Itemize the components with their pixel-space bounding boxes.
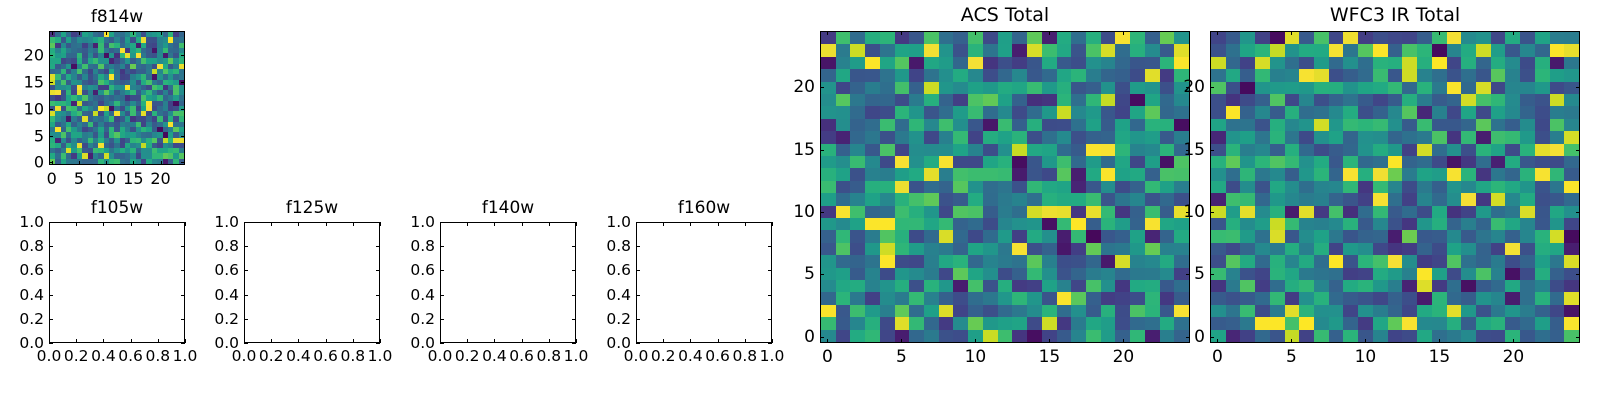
heatmap-cell	[983, 144, 998, 156]
heatmap-cell	[1012, 106, 1027, 118]
heatmap-cell	[1086, 230, 1101, 242]
heatmap-cell	[1211, 57, 1226, 69]
ytick-f105w	[49, 222, 53, 223]
yticklabel-wfc3-ir-total: 10	[1183, 202, 1205, 222]
subplot-f105w: f105w0.00.20.40.60.81.00.00.20.40.60.81.…	[49, 222, 185, 343]
heatmap-cell	[1491, 305, 1506, 317]
heatmap-cell	[1550, 193, 1565, 205]
heatmap-cell	[1314, 181, 1329, 193]
heatmap-cell	[1270, 32, 1285, 44]
xtick-f814w	[161, 161, 162, 165]
heatmap-cell	[1476, 206, 1491, 218]
ytick-right-f160w	[768, 295, 772, 296]
ytick-acs-total	[820, 212, 824, 213]
heatmap-cell	[895, 94, 910, 106]
heatmap-cell	[1174, 317, 1189, 329]
heatmap-cell	[1432, 305, 1447, 317]
heatmap-cell	[909, 280, 924, 292]
heatmap-cell	[1314, 292, 1329, 304]
heatmap-cell	[1130, 218, 1145, 230]
heatmap-cell	[968, 292, 983, 304]
heatmap-cell	[895, 280, 910, 292]
heatmap-cell	[836, 69, 851, 81]
heatmap-cell	[909, 206, 924, 218]
xtick-wfc3-ir-total	[1217, 339, 1218, 343]
heatmap-cell	[1373, 292, 1388, 304]
ytick-right-f125w	[376, 222, 380, 223]
heatmap-cell	[1255, 32, 1270, 44]
heatmap-cell	[1057, 106, 1072, 118]
heatmap-cell	[1115, 193, 1130, 205]
heatmap-cell	[1388, 119, 1403, 131]
heatmap-cell	[1447, 144, 1462, 156]
xticklabel-f125w: 0.8	[340, 347, 365, 365]
heatmap-cell	[1071, 106, 1086, 118]
heatmap-cell	[1388, 280, 1403, 292]
heatmap-cell	[1476, 106, 1491, 118]
heatmap-cell	[1071, 94, 1086, 106]
heatmap-cell	[1086, 292, 1101, 304]
xtick-top-f105w	[185, 222, 186, 226]
heatmap-cell	[1550, 57, 1565, 69]
heatmap-cell	[1115, 144, 1130, 156]
heatmap-cell	[1255, 317, 1270, 329]
xticklabel-f160w: 0.6	[705, 347, 730, 365]
ytick-right-wfc3-ir-total	[1576, 150, 1580, 151]
heatmap-cell	[1461, 156, 1476, 168]
heatmap-cell	[1550, 144, 1565, 156]
heatmap-cell	[1564, 156, 1579, 168]
heatmap-cell	[1564, 292, 1579, 304]
heatmap-cell	[1329, 106, 1344, 118]
heatmap-cell	[1564, 181, 1579, 193]
heatmap-cell	[1101, 32, 1116, 44]
heatmap-cell	[1012, 32, 1027, 44]
heatmap-cell	[1270, 255, 1285, 267]
heatmap-cell	[850, 193, 865, 205]
heatmap-cell	[1432, 280, 1447, 292]
ytick-right-f105w	[181, 222, 185, 223]
yticklabel-f160w: 0.4	[606, 286, 631, 304]
ytick-right-f814w	[181, 162, 185, 163]
heatmap-cell	[1550, 94, 1565, 106]
heatmap-cell	[865, 218, 880, 230]
heatmap-cell	[1160, 292, 1175, 304]
ytick-f105w	[49, 319, 53, 320]
heatmap-cell	[1086, 94, 1101, 106]
heatmap-cell	[1417, 82, 1432, 94]
heatmap-cell	[1476, 317, 1491, 329]
heatmap-cell	[983, 82, 998, 94]
heatmap-cell	[983, 94, 998, 106]
heatmap-cell	[1373, 255, 1388, 267]
heatmap-cell	[1535, 131, 1550, 143]
heatmap-cell	[1086, 82, 1101, 94]
heatmap-cell	[1491, 156, 1506, 168]
ytick-f814w	[49, 55, 53, 56]
heatmap-cell	[1160, 82, 1175, 94]
heatmap-cell	[968, 243, 983, 255]
heatmap-cell	[1373, 193, 1388, 205]
heatmap-cell	[850, 206, 865, 218]
heatmap-cell	[880, 280, 895, 292]
heatmap-cell	[983, 168, 998, 180]
heatmap-cell	[953, 317, 968, 329]
heatmap-cell	[1417, 156, 1432, 168]
heatmap-cell	[1226, 280, 1241, 292]
heatmap-cell	[1285, 119, 1300, 131]
heatmap-cell	[836, 255, 851, 267]
heatmap-cell	[1299, 193, 1314, 205]
heatmap-cell	[1535, 82, 1550, 94]
heatmap-cell	[1285, 168, 1300, 180]
heatmap-cell	[953, 230, 968, 242]
xtick-f125w	[298, 339, 299, 343]
heatmap-cell	[939, 82, 954, 94]
heatmap-cell	[1564, 44, 1579, 56]
heatmap-cell	[1491, 144, 1506, 156]
heatmap-cell	[1358, 268, 1373, 280]
xticklabel-f160w: 0.8	[732, 347, 757, 365]
heatmap-cell	[895, 268, 910, 280]
xticklabel-f125w: 0.4	[286, 347, 311, 365]
heatmap-cell	[1057, 131, 1072, 143]
heatmap-cell	[1255, 268, 1270, 280]
heatmap-cell	[953, 243, 968, 255]
heatmap-cell	[1160, 32, 1175, 44]
heatmap-cell	[1299, 106, 1314, 118]
heatmap-cell	[1130, 44, 1145, 56]
heatmap-cell	[1343, 218, 1358, 230]
heatmap-cell	[1299, 168, 1314, 180]
heatmap-cell	[1417, 305, 1432, 317]
heatmap-cell	[1042, 317, 1057, 329]
xtick-f814w	[106, 161, 107, 165]
heatmap-cell	[1402, 44, 1417, 56]
heatmap-cell	[1240, 268, 1255, 280]
heatmap-cell	[1461, 268, 1476, 280]
heatmap-cell	[1447, 280, 1462, 292]
heatmap-cell	[1027, 69, 1042, 81]
heatmap-cell	[1086, 255, 1101, 267]
heatmap-cell	[1012, 82, 1027, 94]
heatmap-cell	[1417, 280, 1432, 292]
heatmap-cell	[924, 82, 939, 94]
heatmap-cell	[1115, 168, 1130, 180]
xtick-f105w	[185, 339, 186, 343]
heatmap-cell	[1057, 230, 1072, 242]
heatmap-cell	[1270, 292, 1285, 304]
heatmap-cell	[1505, 268, 1520, 280]
heatmap-cell	[1535, 255, 1550, 267]
heatmap-cell	[1402, 280, 1417, 292]
heatmap-cell	[1130, 32, 1145, 44]
heatmap-cell	[1476, 181, 1491, 193]
yticklabel-acs-total: 20	[793, 77, 815, 97]
xticklabel-f140w: 0.6	[509, 347, 534, 365]
heatmap-cell	[880, 168, 895, 180]
heatmap-cell	[1314, 230, 1329, 242]
heatmap-cell	[821, 106, 836, 118]
heatmap-cell	[1115, 305, 1130, 317]
heatmap-cell	[1417, 144, 1432, 156]
heatmap-cell	[1101, 218, 1116, 230]
heatmap-cell	[983, 156, 998, 168]
heatmap-cell	[1505, 206, 1520, 218]
heatmap-cell	[1447, 82, 1462, 94]
heatmap-cell	[1226, 206, 1241, 218]
heatmap-cell	[1057, 268, 1072, 280]
heatmap-cell	[865, 193, 880, 205]
heatmap-cell	[1402, 131, 1417, 143]
heatmap-cell	[1535, 168, 1550, 180]
heatmap-cell	[821, 255, 836, 267]
heatmap-cell	[1255, 330, 1270, 342]
heatmap-cell	[1101, 119, 1116, 131]
heatmap-cell	[836, 168, 851, 180]
heatmap-cell	[1115, 268, 1130, 280]
xtick-top-f140w	[467, 222, 468, 226]
heatmap-cell	[1329, 255, 1344, 267]
heatmap-cell	[1432, 119, 1447, 131]
heatmap-cell	[1417, 69, 1432, 81]
heatmap-cell	[1402, 168, 1417, 180]
heatmap-cell	[1329, 94, 1344, 106]
heatmap-cell	[1550, 119, 1565, 131]
heatmap-cell	[1240, 181, 1255, 193]
heatmap-cell	[1226, 243, 1241, 255]
heatmap-cell	[1255, 119, 1270, 131]
ytick-acs-total	[820, 150, 824, 151]
ytick-acs-total	[820, 87, 824, 88]
heatmap-cell	[1101, 69, 1116, 81]
heatmap-cell	[983, 69, 998, 81]
heatmap-cell	[939, 106, 954, 118]
heatmap-cell	[1564, 305, 1579, 317]
ytick-f140w	[440, 270, 444, 271]
heatmap-cell	[924, 255, 939, 267]
heatmap-cell	[1130, 106, 1145, 118]
xtick-f140w	[576, 339, 577, 343]
heatmap-cell	[998, 330, 1013, 342]
heatmap-cell	[1101, 106, 1116, 118]
heatmap-cell	[998, 243, 1013, 255]
heatmap-cell	[1071, 168, 1086, 180]
yticklabel-f105w: 0.4	[19, 286, 44, 304]
heatmap-cell	[1535, 206, 1550, 218]
xticklabel-f140w: 0.4	[482, 347, 507, 365]
xticklabel-f125w: 1.0	[368, 347, 393, 365]
heatmap-cell	[1012, 230, 1027, 242]
heatmap-cell	[821, 57, 836, 69]
xtick-f140w	[467, 339, 468, 343]
heatmap-cell	[1520, 218, 1535, 230]
heatmap-cell	[1564, 131, 1579, 143]
heatmap-cell	[1564, 280, 1579, 292]
heatmap-cell	[1285, 57, 1300, 69]
heatmap-cell	[1388, 305, 1403, 317]
xtick-f160w	[772, 339, 773, 343]
heatmap-cell	[1476, 69, 1491, 81]
heatmap-cell	[1432, 131, 1447, 143]
heatmap-cell	[1086, 32, 1101, 44]
heatmap-cell	[1160, 181, 1175, 193]
heatmap-cell	[1012, 94, 1027, 106]
heatmap-cell	[1027, 168, 1042, 180]
heatmap-cell	[836, 44, 851, 56]
heatmap-cell	[1057, 292, 1072, 304]
heatmap-cell	[1373, 82, 1388, 94]
ytick-f125w	[244, 246, 248, 247]
heatmap-cell	[1491, 168, 1506, 180]
yticklabel-f814w: 5	[34, 126, 44, 145]
heatmap-cell	[1101, 243, 1116, 255]
heatmap-cell	[836, 82, 851, 94]
heatmap-cell	[1491, 44, 1506, 56]
heatmap-cell	[968, 106, 983, 118]
heatmap-cell	[909, 168, 924, 180]
ytick-right-f125w	[376, 343, 380, 344]
heatmap-cell	[850, 255, 865, 267]
heatmap-cell	[1402, 268, 1417, 280]
heatmap-cell	[1329, 181, 1344, 193]
heatmap-cell	[1086, 330, 1101, 342]
heatmap-cell	[939, 181, 954, 193]
heatmap-cell	[1042, 82, 1057, 94]
heatmap-cell	[1130, 193, 1145, 205]
heatmap-cell	[1417, 131, 1432, 143]
heatmap-cell	[909, 144, 924, 156]
heatmap-cell	[1071, 144, 1086, 156]
heatmap-cell	[1447, 268, 1462, 280]
heatmap-cell	[1174, 44, 1189, 56]
heatmap-cell	[1240, 106, 1255, 118]
heatmap-cell	[1130, 330, 1145, 342]
heatmap-cell	[1270, 305, 1285, 317]
heatmap-cell	[1373, 94, 1388, 106]
heatmap-cell	[1285, 44, 1300, 56]
heatmap-cell	[1160, 119, 1175, 131]
heatmap-cell	[1211, 305, 1226, 317]
heatmap-cell	[1461, 32, 1476, 44]
heatmap-cell	[1211, 119, 1226, 131]
heatmap-cell	[1314, 330, 1329, 342]
heatmap-cell	[1042, 156, 1057, 168]
heatmap-cell	[1012, 44, 1027, 56]
heatmap-cell	[953, 330, 968, 342]
heatmap-cell	[895, 255, 910, 267]
heatmap-cell	[1012, 280, 1027, 292]
heatmap-cell	[1226, 317, 1241, 329]
heatmap-cell	[968, 82, 983, 94]
heatmap-cell	[1388, 181, 1403, 193]
heatmap-cell	[1505, 168, 1520, 180]
heatmap-cell	[1564, 317, 1579, 329]
heatmap-cell	[924, 317, 939, 329]
heatmap-cell	[865, 82, 880, 94]
heatmap-cell	[1447, 131, 1462, 143]
axes-frame-f140w	[440, 222, 576, 343]
ytick-right-f105w	[181, 343, 185, 344]
heatmap-cell	[1160, 156, 1175, 168]
heatmap-cell	[1550, 305, 1565, 317]
heatmap-cell	[1240, 218, 1255, 230]
heatmap-cell	[1071, 206, 1086, 218]
heatmap-cell	[1447, 119, 1462, 131]
heatmap-cell	[983, 230, 998, 242]
yticklabel-wfc3-ir-total: 5	[1194, 264, 1205, 284]
heatmap-cell	[1160, 131, 1175, 143]
xtick-top-f125w	[380, 222, 381, 226]
heatmap-cell	[1550, 330, 1565, 342]
heatmap-cell	[1101, 330, 1116, 342]
heatmap-cell	[1145, 268, 1160, 280]
heatmap-cell	[1174, 181, 1189, 193]
heatmap-cell	[1505, 230, 1520, 242]
heatmap-cell	[1520, 330, 1535, 342]
heatmap-cell	[1432, 94, 1447, 106]
ytick-f814w	[49, 136, 53, 137]
heatmap-cell	[1447, 168, 1462, 180]
heatmap-cell	[953, 32, 968, 44]
heatmap-cell	[1343, 82, 1358, 94]
heatmap-cell	[1417, 230, 1432, 242]
heatmap-cell	[939, 57, 954, 69]
xticklabel-f125w: 0.6	[313, 347, 338, 365]
yticklabel-f125w: 1.0	[214, 213, 239, 231]
heatmap-cell	[1564, 193, 1579, 205]
heatmap-cell	[895, 218, 910, 230]
heatmap-cell	[1329, 317, 1344, 329]
heatmap-cell	[880, 193, 895, 205]
heatmap-cell	[850, 292, 865, 304]
ytick-right-f814w	[181, 55, 185, 56]
heatmap-cell	[1343, 69, 1358, 81]
heatmap-cell	[1012, 305, 1027, 317]
xtick-top-f160w	[690, 222, 691, 226]
heatmap-cell	[1402, 69, 1417, 81]
yticklabel-f160w: 0.6	[606, 261, 631, 279]
heatmap-cell	[1240, 44, 1255, 56]
heatmap-cell	[1255, 218, 1270, 230]
heatmap-cell	[939, 69, 954, 81]
heatmap-cell	[1447, 106, 1462, 118]
heatmap-cell	[983, 292, 998, 304]
xticklabel-f105w: 0.6	[118, 347, 143, 365]
heatmap-cell	[924, 69, 939, 81]
xtick-f105w	[76, 339, 77, 343]
ytick-f140w	[440, 222, 444, 223]
heatmap-cell	[821, 280, 836, 292]
heatmap-cell	[1057, 330, 1072, 342]
heatmap-cell	[1329, 82, 1344, 94]
yticklabel-f105w: 0.0	[19, 334, 44, 352]
xtick-top-f105w	[76, 222, 77, 226]
heatmap-cell	[1285, 243, 1300, 255]
heatmap-cell	[939, 94, 954, 106]
heatmap-cell	[1402, 144, 1417, 156]
heatmap-cell	[1086, 305, 1101, 317]
heatmap-cell	[1505, 305, 1520, 317]
heatmap-cell	[1550, 255, 1565, 267]
heatmap-cell	[998, 292, 1013, 304]
heatmap-cell	[895, 181, 910, 193]
heatmap-cell	[968, 268, 983, 280]
heatmap-cell	[1226, 106, 1241, 118]
heatmap-cell	[1027, 131, 1042, 143]
heatmap-cell	[1057, 119, 1072, 131]
heatmap-cell	[998, 57, 1013, 69]
